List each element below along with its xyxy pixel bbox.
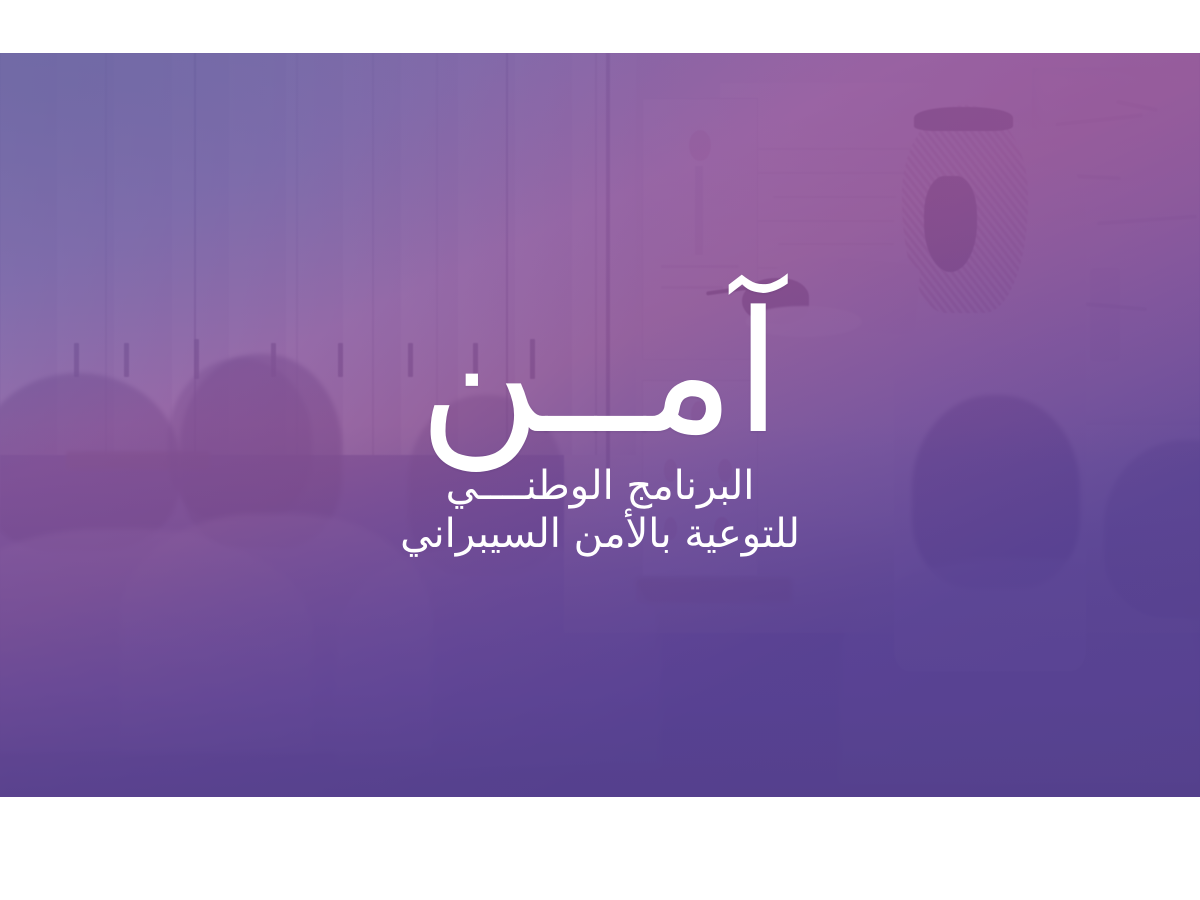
purple-vignette-overlay	[0, 53, 1200, 797]
hero-banner: آمــن البرنامج الوطنــــي للتوعية بالأمن…	[0, 53, 1200, 797]
page-root: آمــن البرنامج الوطنــــي للتوعية بالأمن…	[0, 0, 1200, 900]
